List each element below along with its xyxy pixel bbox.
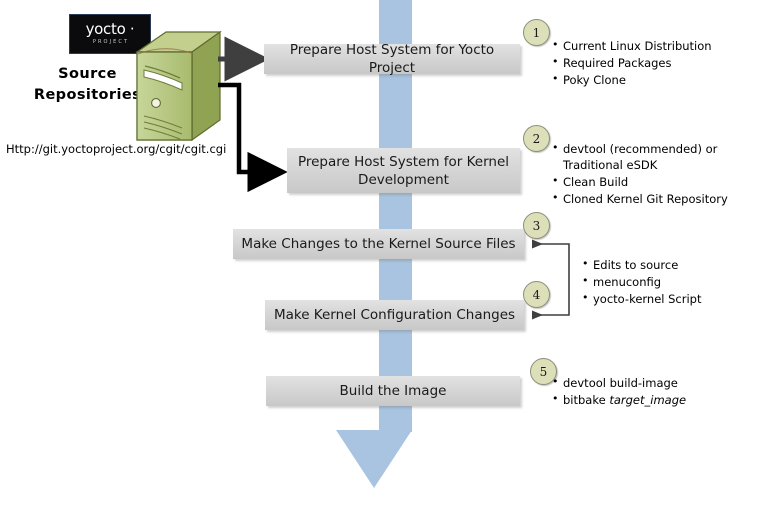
- list-item: menuconfig: [582, 274, 762, 290]
- step-5-number: 5: [540, 365, 548, 379]
- step-3-box[interactable]: Make Changes to the Kernel Source Files: [233, 229, 524, 259]
- step-5-bitbake-cmd: bitbake: [563, 393, 609, 407]
- list-item: Cloned Kernel Git Repository: [552, 191, 764, 207]
- list-item: Clean Build: [552, 174, 764, 190]
- source-repositories-label: Source Repositories: [30, 64, 145, 106]
- list-item: Required Packages: [552, 55, 762, 71]
- arrowhead-into-step3: [532, 240, 543, 249]
- step-1-number: 1: [533, 26, 541, 40]
- yocto-logo-wordmark: yocto ·: [86, 22, 135, 37]
- step-3-4-shared-bullet-list: Edits to source menuconfig yocto-kernel …: [582, 257, 762, 308]
- step-3-box-label: Make Changes to the Kernel Source Files: [241, 235, 515, 253]
- list-item: yocto-kernel Script: [582, 291, 762, 307]
- list-item: Poky Clone: [552, 72, 762, 88]
- step-3-number: 3: [533, 219, 541, 233]
- yocto-logo-subtext: PROJECT: [91, 38, 129, 46]
- step-4-number-circle: 4: [523, 281, 550, 308]
- step-5-box-label: Build the Image: [340, 382, 447, 400]
- arrowhead-into-step4: [532, 311, 543, 320]
- step-2-box[interactable]: Prepare Host System for Kernel Developme…: [287, 148, 520, 193]
- step-1-bullet-list: Current Linux Distribution Required Pack…: [552, 38, 762, 89]
- step-4-box-label: Make Kernel Configuration Changes: [274, 306, 515, 324]
- step-2-number: 2: [533, 132, 541, 146]
- list-item: Edits to source: [582, 257, 762, 273]
- step-1-box[interactable]: Prepare Host System for Yocto Project: [264, 44, 520, 74]
- step-5-bullet-list: devtool build-image bitbake target_image: [552, 375, 752, 409]
- connector-server-to-step2: [218, 85, 281, 172]
- step-1-box-label: Prepare Host System for Yocto Project: [270, 41, 514, 77]
- list-item: devtool (recommended) or Traditional eSD…: [552, 141, 764, 173]
- workflow-diagram: yocto · PROJECT Source Repositories Http…: [0, 0, 769, 517]
- step-2-bullet-list: devtool (recommended) or Traditional eSD…: [552, 141, 764, 208]
- step-1-number-circle: 1: [523, 19, 550, 46]
- step-2-number-circle: 2: [523, 125, 550, 152]
- step-5-bitbake-target: target_image: [609, 393, 686, 407]
- server-tower-icon: [132, 28, 224, 148]
- main-flow-arrow-head: [336, 430, 412, 488]
- source-label-line2: Repositories: [30, 85, 145, 106]
- list-item: bitbake target_image: [552, 392, 752, 408]
- source-label-line1: Source: [30, 64, 145, 85]
- step-4-box[interactable]: Make Kernel Configuration Changes: [265, 300, 524, 330]
- step-3-number-circle: 3: [523, 212, 550, 239]
- step-2-box-label: Prepare Host System for Kernel Developme…: [293, 153, 514, 189]
- list-item: devtool build-image: [552, 375, 752, 391]
- step-4-number: 4: [533, 288, 541, 302]
- step-5-box[interactable]: Build the Image: [266, 376, 520, 406]
- list-item: Current Linux Distribution: [552, 38, 762, 54]
